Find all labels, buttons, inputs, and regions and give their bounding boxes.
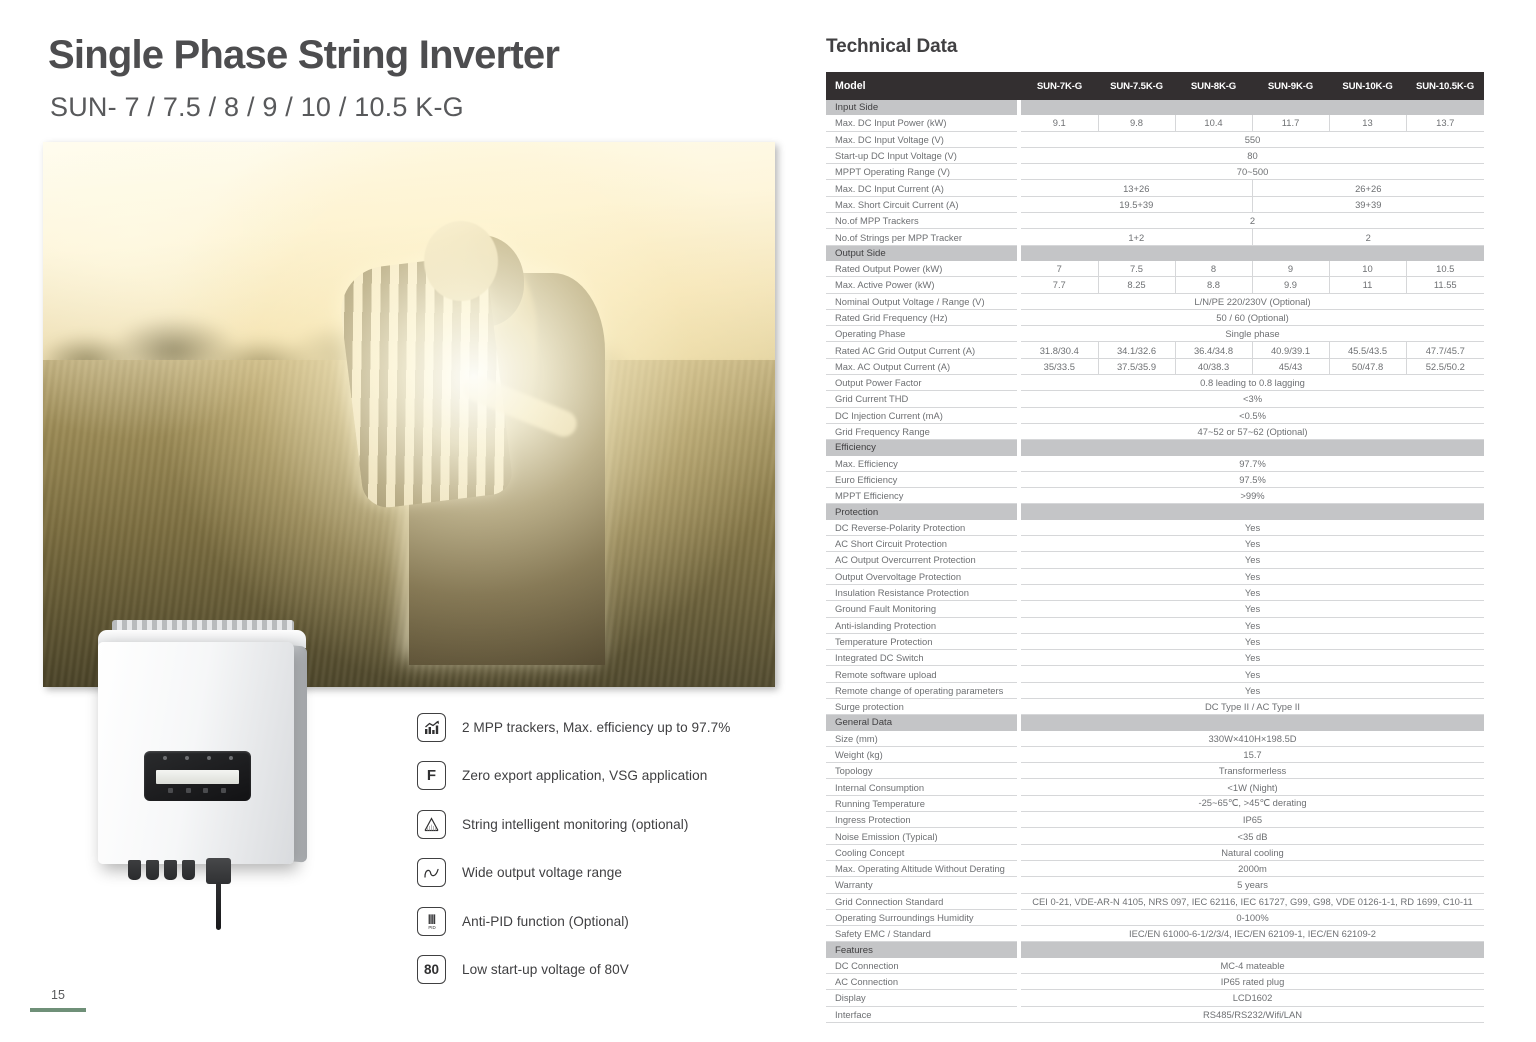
row-label: Euro Efficiency (826, 471, 1017, 487)
row-value: 9.9 (1252, 277, 1329, 293)
row-value: 26+26 (1252, 180, 1484, 196)
table-row: Nominal Output Voltage / Range (V)L/N/PE… (826, 293, 1484, 309)
model-column-header: SUN-9K-G (1252, 72, 1329, 100)
table-row: Remote software uploadYes (826, 666, 1484, 682)
feature-item-zero-export: F Zero export application, VSG applicati… (417, 752, 767, 801)
table-section-header: Efficiency (826, 440, 1484, 456)
table-row: Max. DC Input Voltage (V)550 (826, 131, 1484, 147)
table-body: ModelSUN-7K-GSUN-7.5K-GSUN-8K-GSUN-9K-GS… (826, 72, 1484, 1022)
row-value: 40.9/39.1 (1252, 342, 1329, 358)
inverter-dc-connectors (128, 860, 276, 882)
row-label: Rated Output Power (kW) (826, 261, 1017, 277)
row-value: Yes (1021, 617, 1484, 633)
table-row: No.of Strings per MPP Tracker1+22 (826, 229, 1484, 245)
row-label: Max. DC Input Voltage (V) (826, 131, 1017, 147)
row-label: Max. AC Output Current (A) (826, 358, 1017, 374)
row-label: Grid Frequency Range (826, 423, 1017, 439)
inverter-led-indicators (154, 756, 242, 764)
row-label: Max. Active Power (kW) (826, 277, 1017, 293)
table-row: Grid Frequency Range47~52 or 57~62 (Opti… (826, 423, 1484, 439)
row-value: 2 (1021, 213, 1484, 229)
row-label: No.of MPP Trackers (826, 213, 1017, 229)
section-band (1021, 440, 1484, 456)
table-row: AC Short Circuit ProtectionYes (826, 536, 1484, 552)
row-label: AC Output Overcurrent Protection (826, 552, 1017, 568)
row-value: 330W×410H×198.5D (1021, 731, 1484, 747)
row-value: 10.5 (1406, 261, 1484, 277)
row-value: Yes (1021, 633, 1484, 649)
row-label: AC Short Circuit Protection (826, 536, 1017, 552)
row-value: 40/38.3 (1175, 358, 1252, 374)
model-column-header: SUN-10.5K-G (1406, 72, 1484, 100)
row-value: 1+2 (1021, 229, 1252, 245)
hero-photo-scene (43, 142, 775, 687)
row-label: Nominal Output Voltage / Range (V) (826, 293, 1017, 309)
row-value: 0.8 leading to 0.8 lagging (1021, 375, 1484, 391)
row-value: 70~500 (1021, 164, 1484, 180)
table-row: Grid Current THD<3% (826, 391, 1484, 407)
row-value: 10.4 (1175, 115, 1252, 131)
section-label: Features (826, 942, 1017, 958)
section-label: Output Side (826, 245, 1017, 261)
row-value: 11 (1329, 277, 1406, 293)
inverter-product-image (86, 620, 318, 910)
table-section-header: Protection (826, 504, 1484, 520)
row-value: Natural cooling (1021, 844, 1484, 860)
table-row: Euro Efficiency97.5% (826, 471, 1484, 487)
table-row: Rated Grid Frequency (Hz)50 / 60 (Option… (826, 309, 1484, 325)
row-label: Max. DC Input Current (A) (826, 180, 1017, 196)
right-page: Technical Data ModelSUN-7K-GSUN-7.5K-GSU… (790, 0, 1536, 1042)
model-column-header: SUN-7K-G (1021, 72, 1098, 100)
row-label: AC Connection (826, 974, 1017, 990)
row-value: 11.7 (1252, 115, 1329, 131)
row-value: 0-100% (1021, 909, 1484, 925)
table-row: Ground Fault MonitoringYes (826, 601, 1484, 617)
row-value: Yes (1021, 650, 1484, 666)
start-voltage-80-icon: 80 (417, 955, 446, 984)
row-label: Integrated DC Switch (826, 650, 1017, 666)
row-value: 550 (1021, 131, 1484, 147)
row-value: <1W (Night) (1021, 779, 1484, 795)
table-row: Max. DC Input Power (kW)9.19.810.411.713… (826, 115, 1484, 131)
row-value: 9.1 (1021, 115, 1098, 131)
section-band (1021, 504, 1484, 520)
row-label: Cooling Concept (826, 844, 1017, 860)
inverter-side-face (292, 645, 307, 862)
row-value: MC-4 mateable (1021, 958, 1484, 974)
row-label: Internal Consumption (826, 779, 1017, 795)
row-value: 2 (1252, 229, 1484, 245)
row-value: 50/47.8 (1329, 358, 1406, 374)
row-label: MPPT Efficiency (826, 488, 1017, 504)
row-value: 11.55 (1406, 277, 1484, 293)
sine-wave-icon (417, 858, 446, 887)
row-value: 13.7 (1406, 115, 1484, 131)
row-value: 47.7/45.7 (1406, 342, 1484, 358)
row-value: 50 / 60 (Optional) (1021, 309, 1484, 325)
row-value: 8 (1175, 261, 1252, 277)
row-label: Remote software upload (826, 666, 1017, 682)
section-label: General Data (826, 715, 1017, 731)
table-row: InterfaceRS485/RS232/Wifi/LAN (826, 1006, 1484, 1022)
feature-label: Zero export application, VSG application (462, 768, 707, 783)
model-header-label: Model (826, 72, 1021, 100)
row-value: 47~52 or 57~62 (Optional) (1021, 423, 1484, 439)
row-value: Yes (1021, 666, 1484, 682)
row-value: 7.5 (1098, 261, 1175, 277)
left-page: Single Phase String Inverter SUN- 7 / 7.… (0, 0, 790, 1042)
row-label: MPPT Operating Range (V) (826, 164, 1017, 180)
row-label: Size (mm) (826, 731, 1017, 747)
feature-label: Anti-PID function (Optional) (462, 914, 629, 929)
row-value: L/N/PE 220/230V (Optional) (1021, 293, 1484, 309)
row-value: Single phase (1021, 326, 1484, 342)
row-value: 7 (1021, 261, 1098, 277)
row-label: Weight (kg) (826, 746, 1017, 762)
row-label: Safety EMC / Standard (826, 926, 1017, 942)
row-value: 39+39 (1252, 196, 1484, 212)
row-value: 8.25 (1098, 277, 1175, 293)
row-label: DC Connection (826, 958, 1017, 974)
row-value: 31.8/30.4 (1021, 342, 1098, 358)
model-column-header: SUN-10K-G (1329, 72, 1406, 100)
photo-haze-overlay (43, 142, 775, 687)
table-row: DC Injection Current (mA)<0.5% (826, 407, 1484, 423)
row-value: <0.5% (1021, 407, 1484, 423)
row-value: 10 (1329, 261, 1406, 277)
row-value: IP65 rated plug (1021, 974, 1484, 990)
row-label: Operating Phase (826, 326, 1017, 342)
page-title: Single Phase String Inverter (48, 33, 559, 78)
row-label: Temperature Protection (826, 633, 1017, 649)
table-row: AC Output Overcurrent ProtectionYes (826, 552, 1484, 568)
technical-data-title: Technical Data (826, 36, 957, 58)
row-value: 80 (1021, 147, 1484, 163)
table-row: Anti-islanding ProtectionYes (826, 617, 1484, 633)
table-row: No.of MPP Trackers2 (826, 213, 1484, 229)
row-value: <3% (1021, 391, 1484, 407)
page-number-left: 15 (51, 988, 65, 1002)
inverter-lcd-screen (156, 770, 239, 784)
row-value: 9.8 (1098, 115, 1175, 131)
row-label: Interface (826, 1006, 1017, 1022)
table-section-header: Input Side (826, 100, 1484, 115)
row-value: 8.8 (1175, 277, 1252, 293)
row-value: Yes (1021, 584, 1484, 600)
table-row: Max. Operating Altitude Without Derating… (826, 860, 1484, 876)
row-value: IP65 (1021, 812, 1484, 828)
table-row: Max. Short Circuit Current (A)19.5+3939+… (826, 196, 1484, 212)
row-value: 19.5+39 (1021, 196, 1252, 212)
row-value: RS485/RS232/Wifi/LAN (1021, 1006, 1484, 1022)
section-band (1021, 715, 1484, 731)
row-value: 45.5/43.5 (1329, 342, 1406, 358)
row-label: Grid Current THD (826, 391, 1017, 407)
row-value: 97.5% (1021, 471, 1484, 487)
row-label: Display (826, 990, 1017, 1006)
table-row: Running Temperature-25~65℃, >45℃ deratin… (826, 795, 1484, 811)
table-row: Warranty5 years (826, 877, 1484, 893)
row-value: 45/43 (1252, 358, 1329, 374)
table-section-header: General Data (826, 715, 1484, 731)
table-row: MPPT Efficiency>99% (826, 488, 1484, 504)
row-value: 34.1/32.6 (1098, 342, 1175, 358)
row-label: No.of Strings per MPP Tracker (826, 229, 1017, 245)
feature-item-low-startup-voltage: 80 Low start-up voltage of 80V (417, 946, 767, 995)
table-header-row: ModelSUN-7K-GSUN-7.5K-GSUN-8K-GSUN-9K-GS… (826, 72, 1484, 100)
table-row: MPPT Operating Range (V)70~500 (826, 164, 1484, 180)
model-column-header: SUN-7.5K-G (1098, 72, 1175, 100)
technical-data-table: ModelSUN-7K-GSUN-7.5K-GSUN-8K-GSUN-9K-GS… (826, 72, 1484, 1023)
row-label: Max. Efficiency (826, 456, 1017, 472)
section-label: Protection (826, 504, 1017, 520)
table-row: Integrated DC SwitchYes (826, 650, 1484, 666)
section-label: Efficiency (826, 440, 1017, 456)
feature-item-mpp-trackers: 2 MPP trackers, Max. efficiency up to 97… (417, 703, 767, 752)
row-value: -25~65℃, >45℃ derating (1021, 795, 1484, 811)
row-value: 9 (1252, 261, 1329, 277)
table-row: Safety EMC / StandardIEC/EN 61000-6-1/2/… (826, 926, 1484, 942)
row-value: 13+26 (1021, 180, 1252, 196)
table-row: Surge protectionDC Type II / AC Type II (826, 698, 1484, 714)
table-row: Operating Surroundings Humidity0-100% (826, 909, 1484, 925)
table-row: DisplayLCD1602 (826, 990, 1484, 1006)
feature-list: 2 MPP trackers, Max. efficiency up to 97… (417, 703, 767, 994)
anti-pid-icon: PID (417, 907, 446, 936)
row-value: Yes (1021, 520, 1484, 536)
row-value: 35/33.5 (1021, 358, 1098, 374)
row-label: Anti-islanding Protection (826, 617, 1017, 633)
row-value: 52.5/50.2 (1406, 358, 1484, 374)
row-label: Rated AC Grid Output Current (A) (826, 342, 1017, 358)
feature-label: Low start-up voltage of 80V (462, 962, 629, 977)
page-subtitle: SUN- 7 / 7.5 / 8 / 9 / 10 / 10.5 K-G (50, 92, 464, 123)
feature-item-voltage-range: Wide output voltage range (417, 849, 767, 898)
row-label: Max. DC Input Power (kW) (826, 115, 1017, 131)
feature-label: Wide output voltage range (462, 865, 622, 880)
table-row: Remote change of operating parametersYes (826, 682, 1484, 698)
table-row: Ingress ProtectionIP65 (826, 812, 1484, 828)
svg-text:PID: PID (428, 925, 435, 930)
feature-item-anti-pid: PID Anti-PID function (Optional) (417, 897, 767, 946)
row-value: IEC/EN 61000-6-1/2/3/4, IEC/EN 62109-1, … (1021, 926, 1484, 942)
row-value: 15.7 (1021, 746, 1484, 762)
model-column-header: SUN-8K-G (1175, 72, 1252, 100)
row-value: 7.7 (1021, 277, 1098, 293)
row-label: Max. Short Circuit Current (A) (826, 196, 1017, 212)
row-label: Max. Operating Altitude Without Derating (826, 860, 1017, 876)
table-row: Max. Active Power (kW)7.78.258.89.91111.… (826, 277, 1484, 293)
row-value: Yes (1021, 568, 1484, 584)
row-label: Remote change of operating parameters (826, 682, 1017, 698)
hero-photo (43, 142, 775, 687)
row-value: DC Type II / AC Type II (1021, 698, 1484, 714)
table-row: Rated AC Grid Output Current (A)31.8/30.… (826, 342, 1484, 358)
row-label: Ground Fault Monitoring (826, 601, 1017, 617)
row-label: Running Temperature (826, 795, 1017, 811)
table-row: Internal Consumption<1W (Night) (826, 779, 1484, 795)
row-value: Yes (1021, 552, 1484, 568)
table-row: Output Overvoltage ProtectionYes (826, 568, 1484, 584)
row-value: 2000m (1021, 860, 1484, 876)
table-row: Start-up DC Input Voltage (V)80 (826, 147, 1484, 163)
row-label: Topology (826, 763, 1017, 779)
table-row: Output Power Factor0.8 leading to 0.8 la… (826, 375, 1484, 391)
row-label: Output Power Factor (826, 375, 1017, 391)
row-label: Ingress Protection (826, 812, 1017, 828)
row-label: Start-up DC Input Voltage (V) (826, 147, 1017, 163)
row-value: LCD1602 (1021, 990, 1484, 1006)
feature-label: String intelligent monitoring (optional) (462, 817, 688, 832)
section-band (1021, 100, 1484, 115)
table-row: DC ConnectionMC-4 mateable (826, 958, 1484, 974)
table-row: Max. Efficiency97.7% (826, 456, 1484, 472)
table-row: Insulation Resistance ProtectionYes (826, 584, 1484, 600)
row-value: Yes (1021, 536, 1484, 552)
row-value: 13 (1329, 115, 1406, 131)
row-value: 97.7% (1021, 456, 1484, 472)
row-label: Surge protection (826, 698, 1017, 714)
row-value: >99% (1021, 488, 1484, 504)
row-value: Transformerless (1021, 763, 1484, 779)
row-value: CEI 0-21, VDE-AR-N 4105, NRS 097, IEC 62… (1021, 893, 1484, 909)
row-value: 37.5/35.9 (1098, 358, 1175, 374)
table-row: Cooling ConceptNatural cooling (826, 844, 1484, 860)
row-label: Rated Grid Frequency (Hz) (826, 309, 1017, 325)
row-value: 5 years (1021, 877, 1484, 893)
feature-item-string-monitoring: String intelligent monitoring (optional) (417, 800, 767, 849)
row-label: DC Injection Current (mA) (826, 407, 1017, 423)
table-row: Noise Emission (Typical)<35 dB (826, 828, 1484, 844)
row-value: Yes (1021, 601, 1484, 617)
row-label: Output Overvoltage Protection (826, 568, 1017, 584)
table-row: AC ConnectionIP65 rated plug (826, 974, 1484, 990)
table-section-header: Features (826, 942, 1484, 958)
table-row: Grid Connection StandardCEI 0-21, VDE-AR… (826, 893, 1484, 909)
inverter-ac-connector (206, 858, 231, 884)
section-label: Input Side (826, 100, 1017, 115)
row-label: Grid Connection Standard (826, 893, 1017, 909)
string-monitor-icon (417, 810, 446, 839)
feature-label: 2 MPP trackers, Max. efficiency up to 97… (462, 720, 730, 735)
table-row: Size (mm)330W×410H×198.5D (826, 731, 1484, 747)
table-row: Weight (kg)15.7 (826, 746, 1484, 762)
zero-export-f-icon: F (417, 761, 446, 790)
table-row: Max. DC Input Current (A)13+2626+26 (826, 180, 1484, 196)
section-band (1021, 245, 1484, 261)
row-value: Yes (1021, 682, 1484, 698)
table-row: DC Reverse-Polarity ProtectionYes (826, 520, 1484, 536)
table-section-header: Output Side (826, 245, 1484, 261)
row-value: 36.4/34.8 (1175, 342, 1252, 358)
row-label: Operating Surroundings Humidity (826, 909, 1017, 925)
table-row: Max. AC Output Current (A)35/33.537.5/35… (826, 358, 1484, 374)
table-row: TopologyTransformerless (826, 763, 1484, 779)
section-band (1021, 942, 1484, 958)
row-label: Noise Emission (Typical) (826, 828, 1017, 844)
row-value: <35 dB (1021, 828, 1484, 844)
page-accent-bar-left (30, 1008, 86, 1012)
mpp-chart-icon (417, 713, 446, 742)
inverter-buttons (168, 788, 226, 795)
table-row: Operating PhaseSingle phase (826, 326, 1484, 342)
row-label: Insulation Resistance Protection (826, 584, 1017, 600)
row-label: Warranty (826, 877, 1017, 893)
table-row: Rated Output Power (kW)77.5891010.5 (826, 261, 1484, 277)
inverter-ac-cable (216, 882, 221, 930)
row-label: DC Reverse-Polarity Protection (826, 520, 1017, 536)
table-row: Temperature ProtectionYes (826, 633, 1484, 649)
